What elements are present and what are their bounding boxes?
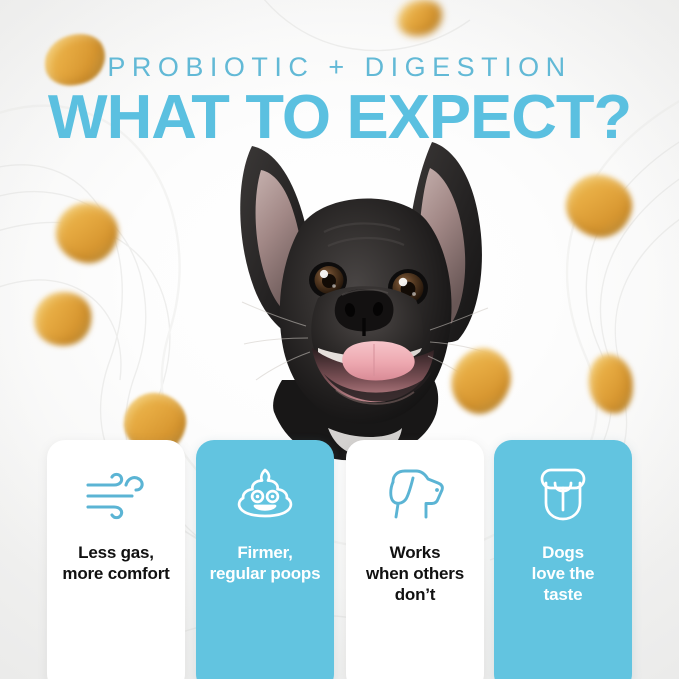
wind-icon	[81, 462, 151, 528]
page-title: WHAT TO EXPECT?	[0, 85, 679, 151]
tongue-mouth-icon	[528, 462, 598, 528]
benefit-card-less-gas[interactable]: Less gas,more comfort	[47, 440, 185, 679]
kicker-text: PROBIOTIC + DIGESTION	[0, 52, 679, 83]
benefit-card-label: Dogslove thetaste	[526, 542, 601, 605]
benefit-card-label: Less gas,more comfort	[56, 542, 175, 584]
benefit-card-dogs-love-taste[interactable]: Dogslove thetaste	[494, 440, 632, 679]
benefit-card-firmer-poops[interactable]: Firmer,regular poops	[196, 440, 334, 679]
poop-emoji-icon	[230, 462, 300, 528]
benefit-card-label: Firmer,regular poops	[204, 542, 327, 584]
infographic-canvas: Less gas,more comfort Firmer,regular poo…	[0, 0, 679, 679]
benefit-card-works-when-others-dont[interactable]: Workswhen othersdon’t	[346, 440, 484, 679]
benefit-card-label: Workswhen othersdon’t	[360, 542, 470, 605]
dog-head-icon	[380, 462, 450, 528]
hero-dog-image	[178, 112, 506, 462]
